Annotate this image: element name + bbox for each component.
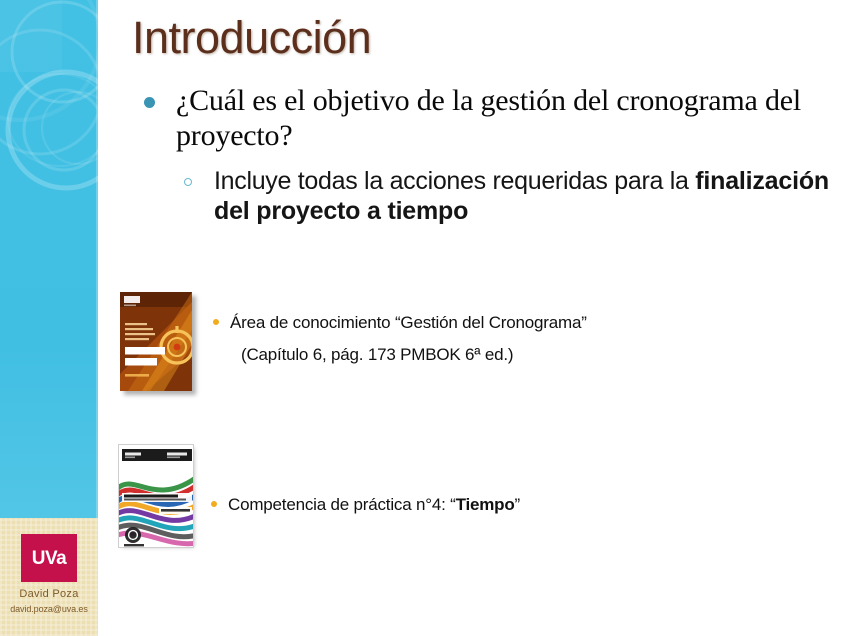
book-cover-competencia-art	[119, 445, 194, 548]
bullet-level2: Incluye todas la acciones requeridas par…	[132, 166, 832, 227]
reference-caption-competencia-normal: Competencia de práctica n°4: “	[228, 495, 456, 514]
page-title: Introducción	[132, 14, 371, 61]
bullet-level1-text: ¿Cuál es el objetivo de la gestión del c…	[176, 84, 801, 152]
caption-marker-icon	[211, 501, 217, 507]
uva-logo-text: UVa	[32, 549, 66, 568]
reference-caption-pmbok-line1: Área de conocimiento “Gestión del Cronog…	[230, 313, 587, 332]
book-cover-pmbok-art	[120, 292, 192, 391]
bullet-level2-text: Incluye todas la acciones requeridas par…	[214, 167, 695, 195]
reference-caption-pmbok: Área de conocimiento “Gestión del Cronog…	[230, 310, 587, 336]
slide-canvas: UVa David Poza david.poza@uva.es Introdu…	[0, 0, 848, 636]
caption-marker-icon	[213, 319, 219, 325]
bullet-marker-hollow-icon	[184, 178, 192, 186]
reference-caption-pmbok-line2: (Capítulo 6, pág. 173 PMBOK 6ª ed.)	[241, 345, 513, 364]
author-email: david.poza@uva.es	[0, 604, 98, 614]
reference-caption-competencia-tail: ”	[515, 495, 520, 514]
bullet-marker-filled-icon	[144, 97, 155, 108]
book-cover-competencia	[118, 444, 194, 548]
reference-caption-pmbok-line2-wrap: (Capítulo 6, pág. 173 PMBOK 6ª ed.)	[230, 342, 513, 368]
reference-caption-competencia: Competencia de práctica n°4: “Tiempo”	[228, 492, 520, 518]
book-cover-pmbok	[120, 292, 192, 391]
author-name: David Poza	[0, 588, 98, 600]
footer-logo-block: UVa David Poza david.poza@uva.es	[0, 518, 98, 636]
uva-logo: UVa	[21, 534, 77, 582]
bullet-level1: ¿Cuál es el objetivo de la gestión del c…	[132, 84, 832, 154]
content-body: ¿Cuál es el objetivo de la gestión del c…	[132, 84, 832, 227]
reference-caption-competencia-bold: Tiempo	[456, 495, 515, 514]
